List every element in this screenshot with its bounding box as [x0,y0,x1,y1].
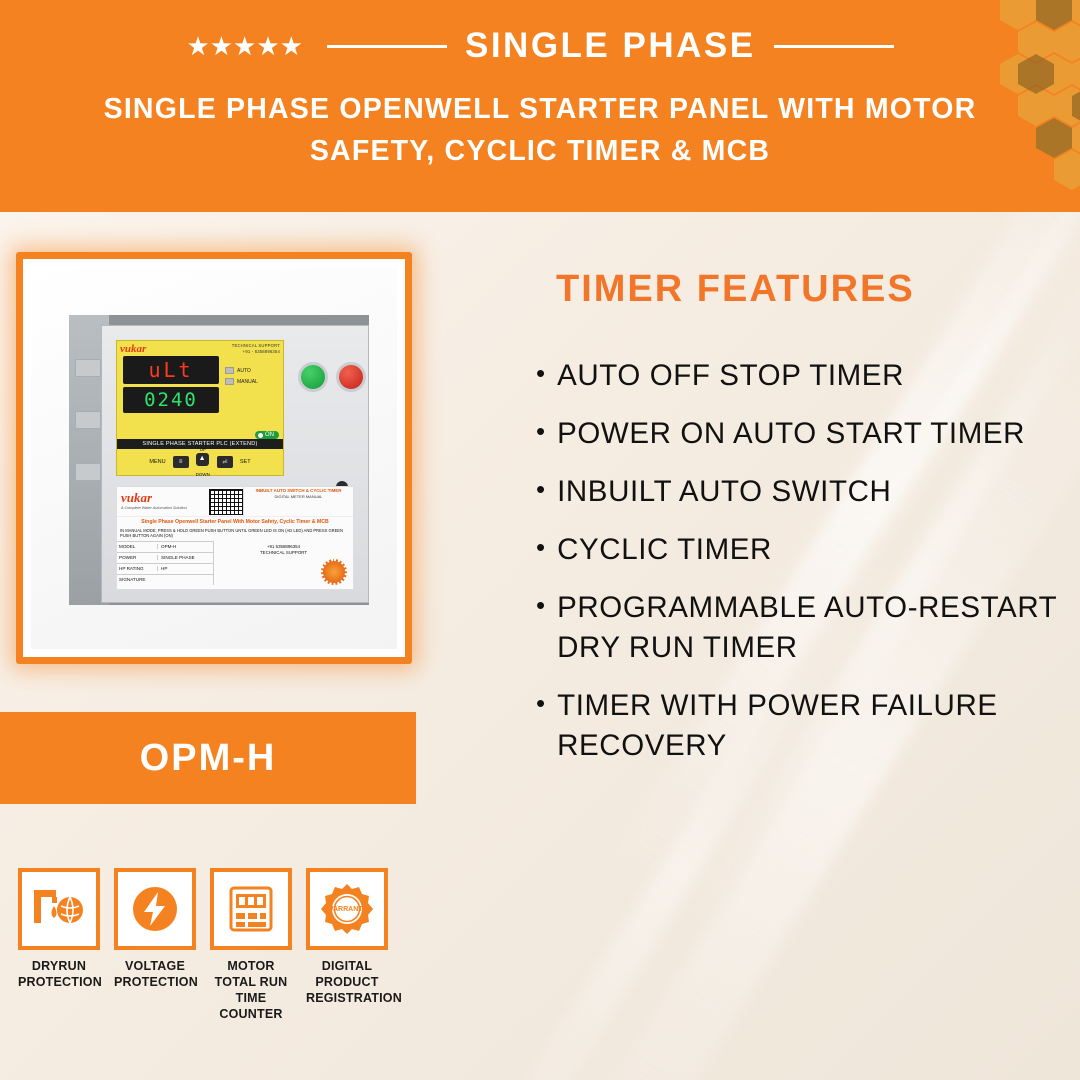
sticker-feature-sub: DIGITAL METER MANUAL [246,494,351,500]
sticker-brand: vukar [121,490,205,506]
sticker-spec-table: MODELOPM-H POWERSINGLE PHASE HP RATINGHP… [117,541,353,585]
feature-icon-voltage: VOLTAGE PROTECTION [114,868,196,1022]
page-title: SINGLE PHASE [465,26,756,66]
list-item: • PROGRAMMABLE AUTO-RESTART DRY RUN TIME… [536,588,1066,668]
bullet-icon: • [536,530,545,564]
on-indicator-label: ON [265,432,274,438]
feature-icon-caption: VOLTAGE PROTECTION [114,958,196,990]
feature-icon-caption: DRYRUN PROTECTION [18,958,100,990]
model-name: OPM-H [140,737,277,780]
table-row: POWERSINGLE PHASE [117,552,213,563]
list-item: • TIMER WITH POWER FAILURE RECOVERY [536,686,1066,766]
feature-icon-runtime: MOTOR TOTAL RUN TIME COUNTER [210,868,292,1022]
enclosure-hinges [75,359,101,515]
controller-keypad: MENU ≡ UP ▲ DOWN ⏎ SET [117,451,283,473]
green-push-button[interactable] [298,362,328,392]
feature-label: TIMER WITH POWER FAILURE RECOVERY [557,686,1066,766]
product-image-frame: vukar TECHNICAL SUPPORT +91 - 6358896354… [16,252,412,664]
set-key[interactable]: ⏎ [217,456,233,468]
controller-brand-logo: vukar [120,343,146,355]
product-illustration: vukar TECHNICAL SUPPORT +91 - 6358896354… [31,267,397,649]
rating-stars: ★★★★★ [186,33,303,59]
digital-product-registration-icon: WARRANTY [306,868,388,950]
list-item: • INBUILT AUTO SWITCH [536,472,1066,512]
dryrun-protection-icon [18,868,100,950]
list-item: • CYCLIC TIMER [536,530,1066,570]
list-item: • AUTO OFF STOP TIMER [536,356,1066,396]
feature-icon-dryrun: DRYRUN PROTECTION [18,868,100,1022]
sticker-support-label: TECHNICAL SUPPORT [214,550,353,556]
display-bottom: 0240 [123,387,219,413]
bullet-icon: • [536,472,545,506]
enclosure-front-panel: vukar TECHNICAL SUPPORT +91 - 6358896354… [101,325,369,603]
page-header: ★★★★★ SINGLE PHASE SINGLE PHASE OPENWELL… [0,0,1080,212]
up-key-label: UP [200,447,206,452]
header-title-row: ★★★★★ SINGLE PHASE [0,20,1080,72]
feature-label: PROGRAMMABLE AUTO-RESTART DRY RUN TIMER [557,588,1066,668]
controller-faceplate: vukar TECHNICAL SUPPORT +91 - 6358896354… [116,340,284,476]
mode-manual-label: MANUAL [237,379,258,385]
spec-value: OPM-H [157,544,213,549]
product-label-sticker: vukar A Complete Water Automation Soluti… [116,486,354,590]
feature-icon-caption: DIGITAL PRODUCT REGISTRATION [306,958,388,1006]
bullet-icon: • [536,686,545,720]
mode-indicators: AUTO MANUAL [225,367,277,389]
timer-features-list: • AUTO OFF STOP TIMER • POWER ON AUTO ST… [536,356,1066,784]
voltage-protection-icon [114,868,196,950]
feature-icon-registration: WARRANTY DIGITAL PRODUCT REGISTRATION [306,868,388,1022]
spec-value: HP [157,566,213,571]
motor-run-time-counter-icon [210,868,292,950]
feature-label: AUTO OFF STOP TIMER [557,356,904,396]
feature-icon-caption: MOTOR TOTAL RUN TIME COUNTER [210,958,292,1022]
table-row: SIGNATURE [117,574,213,585]
spec-label: HP RATING [117,566,157,571]
controller-support-label: TECHNICAL SUPPORT [232,343,280,348]
warranty-seal-icon [321,559,347,585]
feature-label: POWER ON AUTO START TIMER [557,414,1025,454]
feature-icon-row: DRYRUN PROTECTION VOLTAGE PROTECTION [18,868,498,1022]
feature-label: INBUILT AUTO SWITCH [557,472,891,512]
sticker-note: IN MANUAL MODE, PRESS & HOLD GREEN PUSH … [117,526,353,541]
menu-key[interactable]: ≡ [173,456,189,468]
divider-left [327,45,447,48]
qr-code [209,489,243,515]
table-row: HP RATINGHP [117,563,213,574]
updown-key[interactable]: ▲ [196,453,209,466]
red-push-button[interactable] [336,362,366,392]
sticker-headline: Single Phase Openwell Starter Panel With… [117,517,353,526]
svg-text:WARRANTY: WARRANTY [327,906,368,913]
timer-features-heading: TIMER FEATURES [556,268,915,311]
list-item: • POWER ON AUTO START TIMER [536,414,1066,454]
down-key-label: DOWN [196,472,210,477]
divider-right [774,45,894,48]
menu-key-label: MENU [149,459,165,465]
spec-label: SIGNATURE [117,577,157,582]
page-subtitle: SINGLE PHASE OPENWELL STARTER PANEL WITH… [0,88,1080,172]
mode-auto-label: AUTO [237,368,251,374]
bullet-icon: • [536,414,545,448]
feature-label: CYCLIC TIMER [557,530,772,570]
bullet-icon: • [536,356,545,390]
spec-label: MODEL [117,544,157,549]
spec-value: SINGLE PHASE [157,555,213,560]
model-badge: OPM-H [0,712,416,804]
set-key-label: SET [240,459,251,465]
display-top: uLt [123,356,219,384]
spec-label: POWER [117,555,157,560]
on-indicator: ON [255,431,279,439]
bullet-icon: • [536,588,545,622]
controller-support-phone: +91 - 6358896354 [243,349,280,354]
table-row: MODELOPM-H [117,541,213,552]
sticker-tagline: A Complete Water Automation Solution [121,506,205,510]
